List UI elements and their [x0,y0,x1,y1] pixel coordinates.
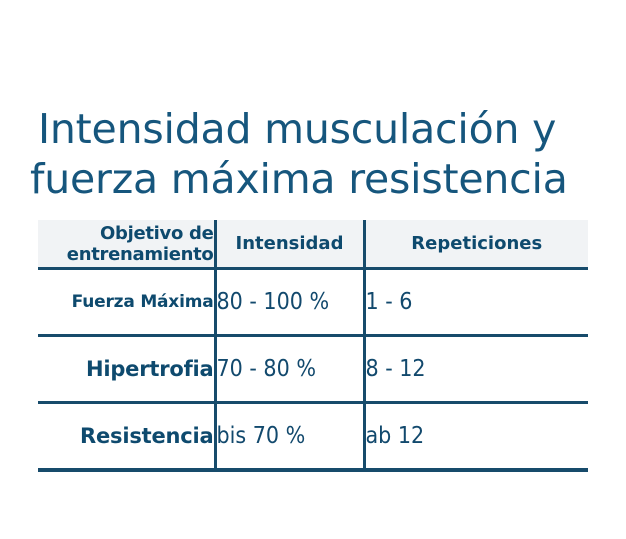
column-header-objetivo-line-2: entrenamiento [67,244,214,265]
table-row: Fuerza Máxima 80 - 100 % 1 - 6 [38,269,588,336]
cell-objetivo-0: Fuerza Máxima [38,269,215,336]
infographic-page: Intensidad musculación y fuerza máxima r… [0,0,626,539]
column-header-objetivo-line-1: Objetivo de [100,223,214,244]
table-header: Objetivo de entrenamiento Intensidad Rep… [38,220,588,269]
cell-repeticiones-2: ab 12 [364,403,588,471]
cell-intensidad-2: bis 70 % [215,403,364,471]
page-title-line-2: fuerza máxima resistencia [30,154,626,204]
cell-repeticiones-1: 8 - 12 [364,336,588,403]
cell-intensidad-1: 70 - 80 % [215,336,364,403]
cell-intensidad-0: 80 - 100 % [215,269,364,336]
column-header-repeticiones: Repeticiones [364,220,588,269]
cell-objetivo-1: Hipertrofia [38,336,215,403]
table: Objetivo de entrenamiento Intensidad Rep… [38,220,588,472]
table-row: Hipertrofia 70 - 80 % 8 - 12 [38,336,588,403]
table-row: Resistencia bis 70 % ab 12 [38,403,588,471]
column-header-objetivo: Objetivo de entrenamiento [38,220,215,269]
column-header-intensidad: Intensidad [215,220,364,269]
page-title-line-1: Intensidad musculación y [30,104,626,154]
training-intensity-table: Objetivo de entrenamiento Intensidad Rep… [38,220,588,472]
table-body: Fuerza Máxima 80 - 100 % 1 - 6 Hipertrof… [38,269,588,471]
table-header-row: Objetivo de entrenamiento Intensidad Rep… [38,220,588,269]
page-title: Intensidad musculación y fuerza máxima r… [30,104,626,204]
cell-objetivo-2: Resistencia [38,403,215,471]
cell-repeticiones-0: 1 - 6 [364,269,588,336]
